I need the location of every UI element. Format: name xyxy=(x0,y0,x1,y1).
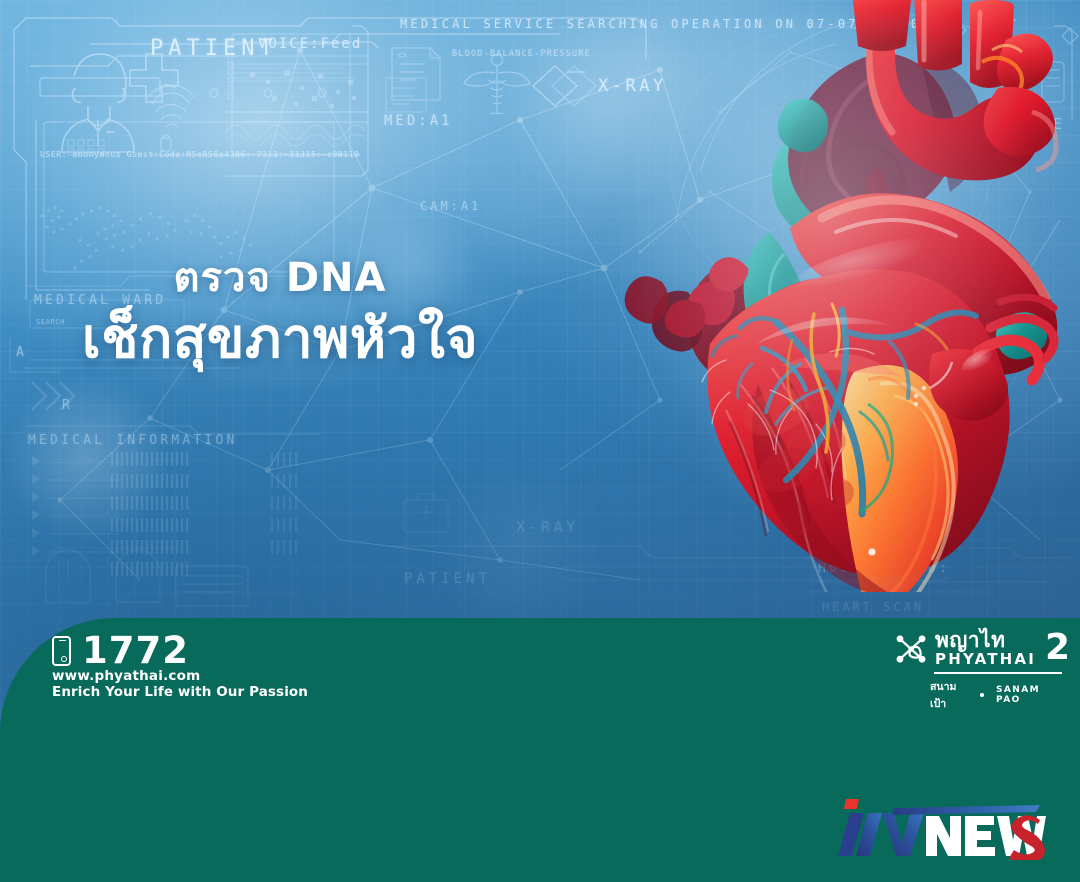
branch-name-thai: สนามเป้า xyxy=(930,678,968,712)
headline-line-1: ตรวจ DNA xyxy=(0,255,560,302)
headline-block: ตรวจ DNA เช็กสุขภาพหัวใจ xyxy=(0,255,560,373)
hud-label-cam-ai: CAM:A1 xyxy=(420,199,481,213)
branch-name-english: SANAM PAO xyxy=(996,685,1062,705)
phyathai-logo: พญาไท PHYATHAI 2 สนามเป้า SANAM PAO xyxy=(894,630,1062,712)
hud-label-patient-faint: PATIENT xyxy=(404,571,491,587)
hud-label-heart-faint: HEART SCAN xyxy=(822,600,924,614)
fingerprint-icon xyxy=(149,84,194,127)
hud-label-medical-information: MEDICAL INFORMATION xyxy=(28,433,238,448)
hud-bottom-left-shapes xyxy=(0,548,300,604)
logo-divider xyxy=(934,672,1062,674)
phyathai-branch-number: 2 xyxy=(1045,633,1070,664)
website-url[interactable]: www.phyathai.com xyxy=(52,668,200,684)
hud-label-med-ai: MED:A1 xyxy=(384,113,453,129)
heart-glow xyxy=(620,12,1040,482)
poster-canvas: PATIENT VOICE:Feed MEDICAL SERVICE SEARC… xyxy=(0,0,1080,882)
phyathai-thai-name: พญาไท xyxy=(935,630,1036,651)
contact-banner: 1772 www.phyathai.com Enrich Your Life w… xyxy=(0,618,1080,882)
patient-avatar-icon xyxy=(62,54,134,152)
caduceus-icon xyxy=(464,54,530,113)
heart-specular-dot xyxy=(868,548,875,555)
in-news-n-diagonal xyxy=(882,813,924,856)
hud-label-xray-faint: X-RAY xyxy=(516,518,579,536)
in-news-watermark xyxy=(834,794,1046,860)
phyathai-english-name: PHYATHAI xyxy=(935,652,1036,667)
prescription-icon xyxy=(392,48,440,100)
hud-label-blood-balance: BLOOD-BALANCE-PRESSURE xyxy=(452,49,591,59)
in-news-red-accent xyxy=(844,799,859,809)
headline-line-2: เช็กสุขภาพหัวใจ xyxy=(0,304,560,373)
hotline-block: 1772 xyxy=(52,632,189,669)
brand-tagline: Enrich Your Life with Our Passion xyxy=(52,684,308,700)
hud-label-user-code: USER: anonymous Guest:Code:M5e856a4386:-… xyxy=(40,150,360,159)
mobile-phone-icon xyxy=(52,636,71,666)
in-news-top-bar xyxy=(892,805,1040,815)
hud-label-letter-r: R xyxy=(62,398,71,413)
heart-illustration xyxy=(580,0,1080,592)
hud-label-voice-feed: VOICE:Feed xyxy=(258,36,362,52)
phyathai-molecule-icon xyxy=(894,632,928,666)
branch-separator-dot xyxy=(980,693,984,697)
hotline-number: 1772 xyxy=(82,632,189,669)
